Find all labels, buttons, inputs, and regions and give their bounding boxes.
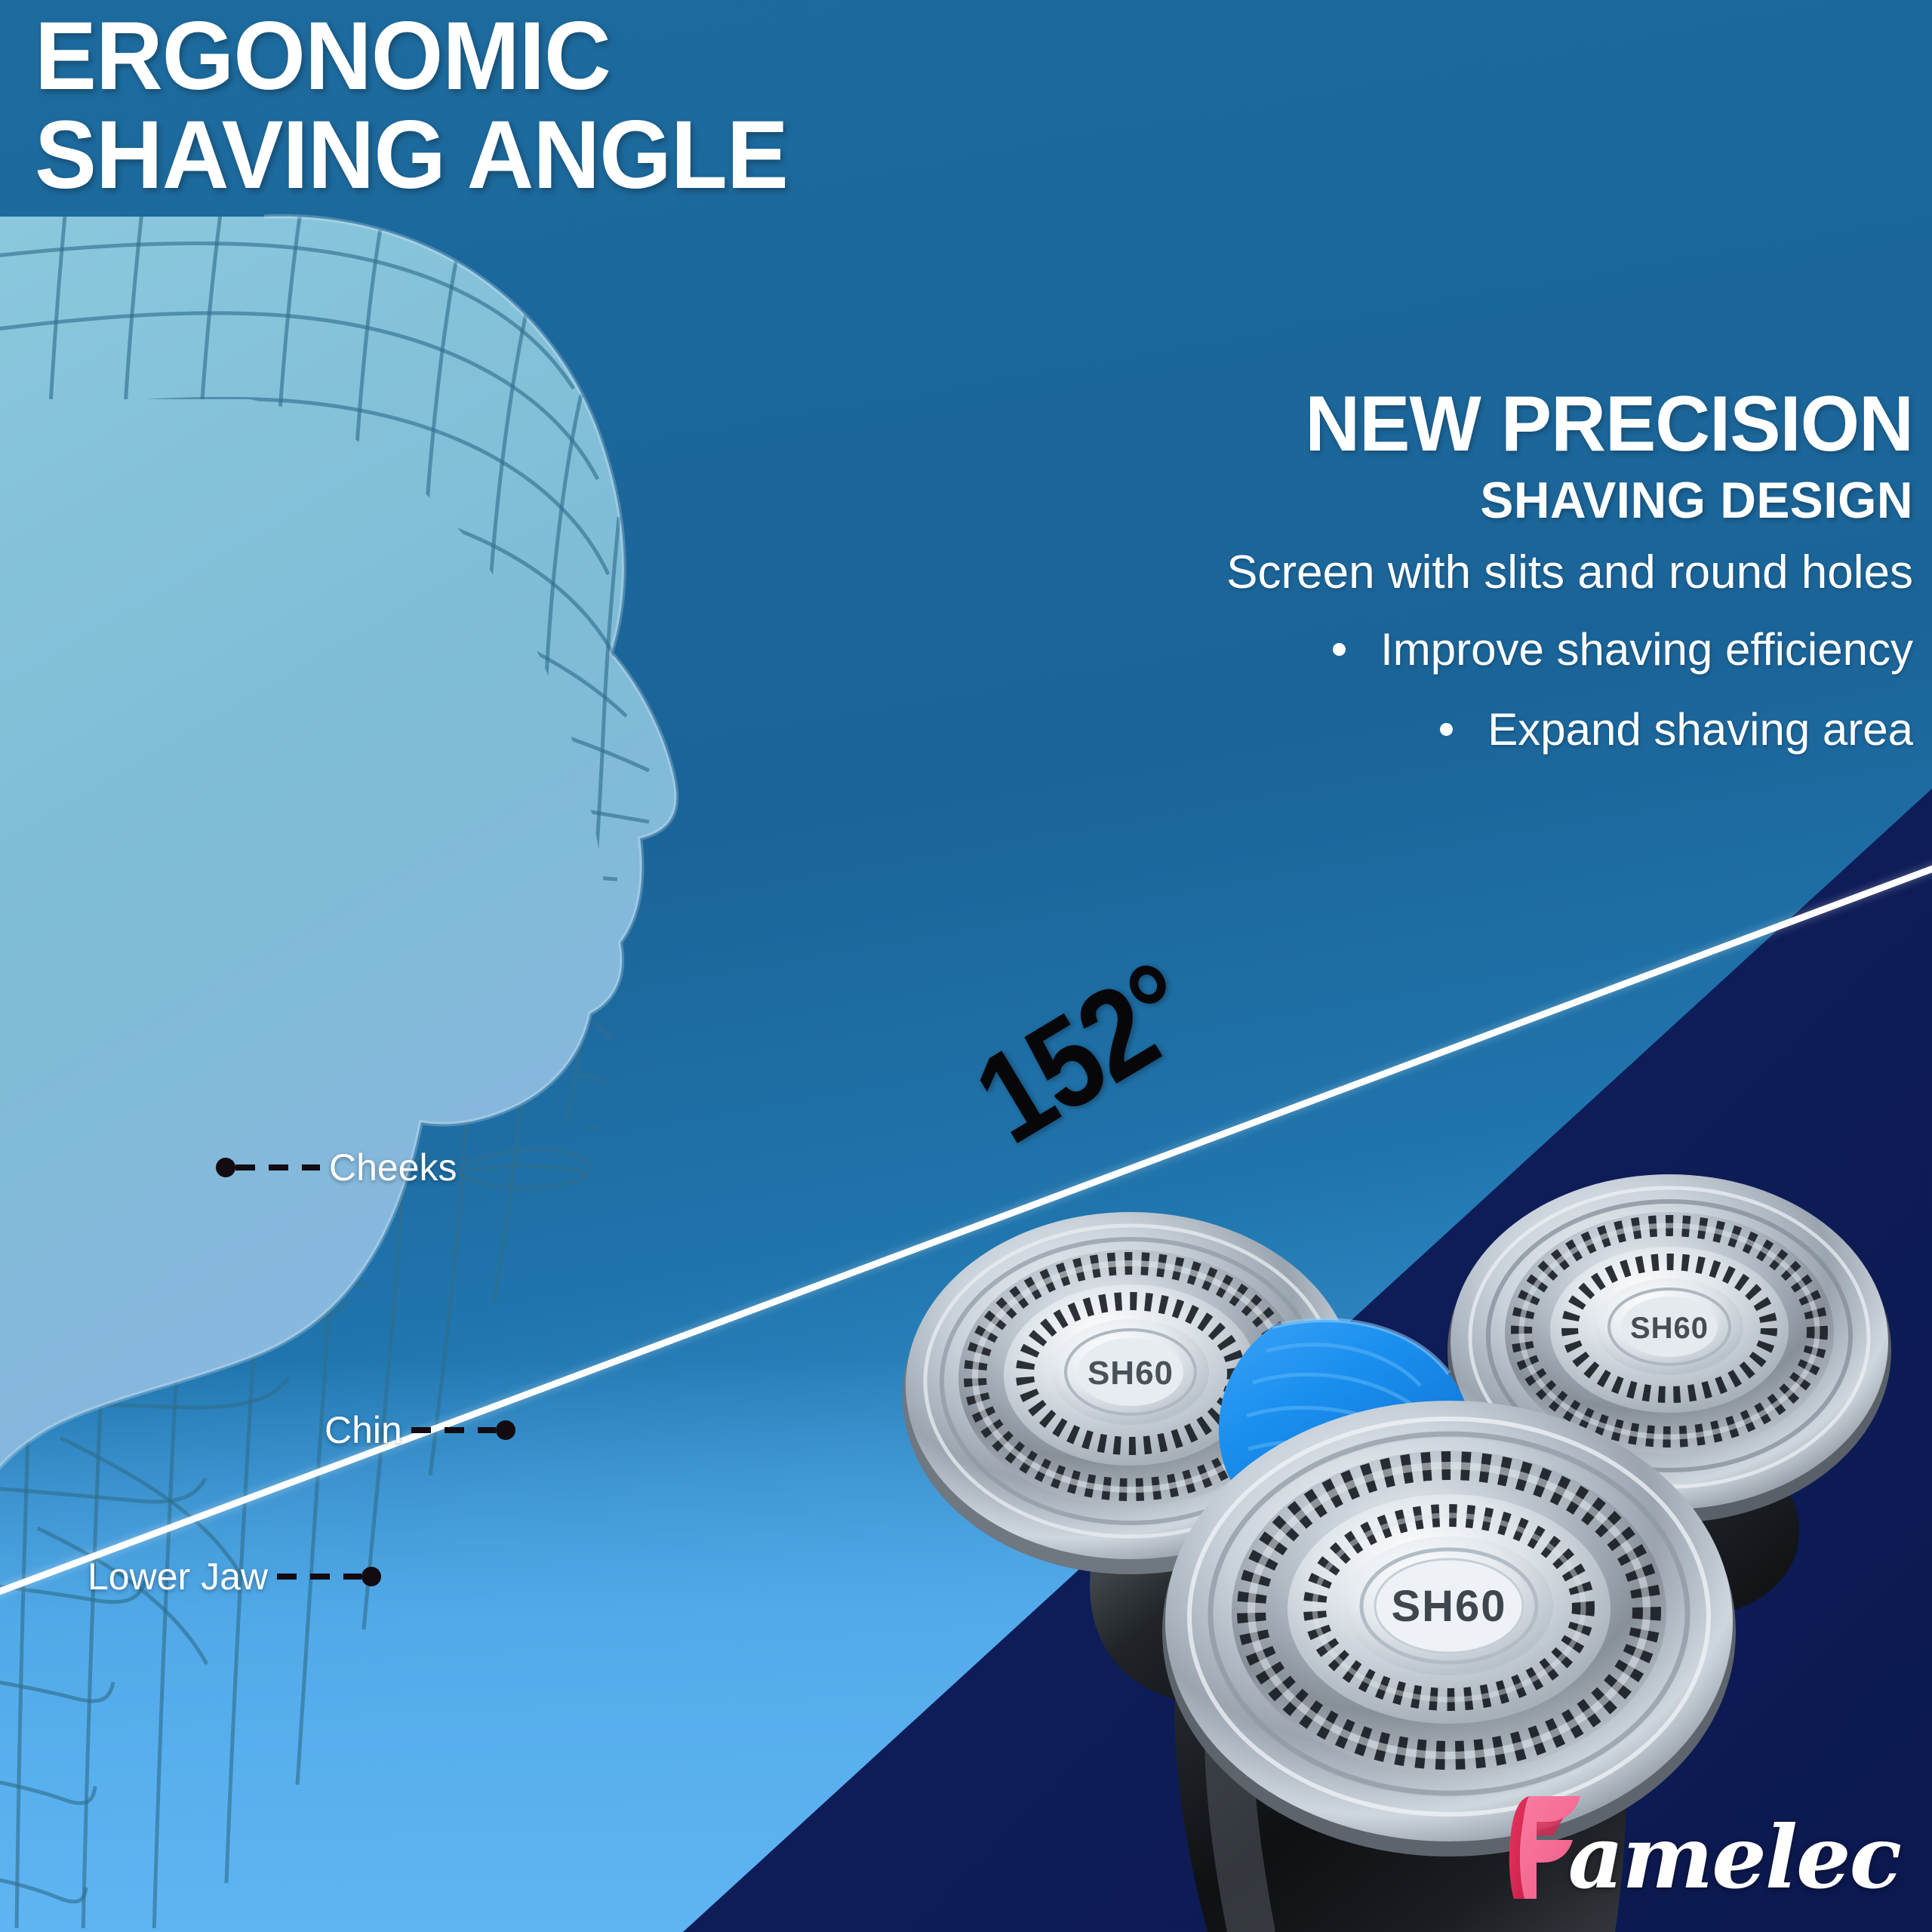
bullet-dot-icon — [1440, 723, 1453, 736]
bullet-label: Expand shaving area — [1487, 703, 1913, 757]
feature-bullet-list: Improve shaving efficiency Expand shavin… — [951, 623, 1913, 757]
feature-heading: NEW PRECISION — [980, 385, 1913, 463]
callout-dot-icon — [361, 1567, 381, 1586]
head-model-label-3: SH60 — [1391, 1582, 1506, 1631]
product-infographic: ERGONOMIC SHAVING ANGLE NEW PRECISION SH… — [0, 0, 1932, 1932]
callout-dot-icon — [216, 1158, 235, 1177]
feature-lead-text: Screen with slits and round holes — [951, 546, 1913, 599]
shaver-head-front-center: SH60 — [1162, 1401, 1736, 1857]
head-model-label-2: SH60 — [1630, 1312, 1709, 1345]
brand-logo: amelec — [1506, 1792, 1900, 1903]
callout-chin: Chin — [315, 1408, 515, 1452]
callout-label: Cheeks — [320, 1146, 466, 1189]
famelec-wordmark: amelec — [1568, 1814, 1900, 1903]
callout-label: Lower Jaw — [78, 1555, 277, 1598]
callout-label: Chin — [315, 1408, 411, 1452]
bullet-label: Improve shaving efficiency — [1380, 623, 1913, 677]
page-title: ERGONOMIC SHAVING ANGLE — [35, 8, 788, 205]
dashed-leader-line-icon — [411, 1427, 496, 1433]
famelec-f-mark-icon — [1506, 1792, 1588, 1903]
list-item: Expand shaving area — [951, 703, 1913, 757]
callout-cheeks: Cheeks — [216, 1146, 466, 1189]
feature-text-panel: NEW PRECISION SHAVING DESIGN Screen with… — [951, 385, 1913, 783]
callout-lower-jaw: Lower Jaw — [78, 1555, 381, 1598]
wireframe-head-illustration — [0, 200, 913, 1932]
bullet-dot-icon — [1333, 643, 1346, 656]
callout-dot-icon — [496, 1420, 515, 1440]
head-model-label-1: SH60 — [1088, 1355, 1174, 1392]
feature-subheading: SHAVING DESIGN — [980, 474, 1913, 528]
dashed-leader-line-icon — [235, 1164, 320, 1171]
dashed-leader-line-icon — [277, 1574, 361, 1580]
list-item: Improve shaving efficiency — [951, 623, 1913, 677]
